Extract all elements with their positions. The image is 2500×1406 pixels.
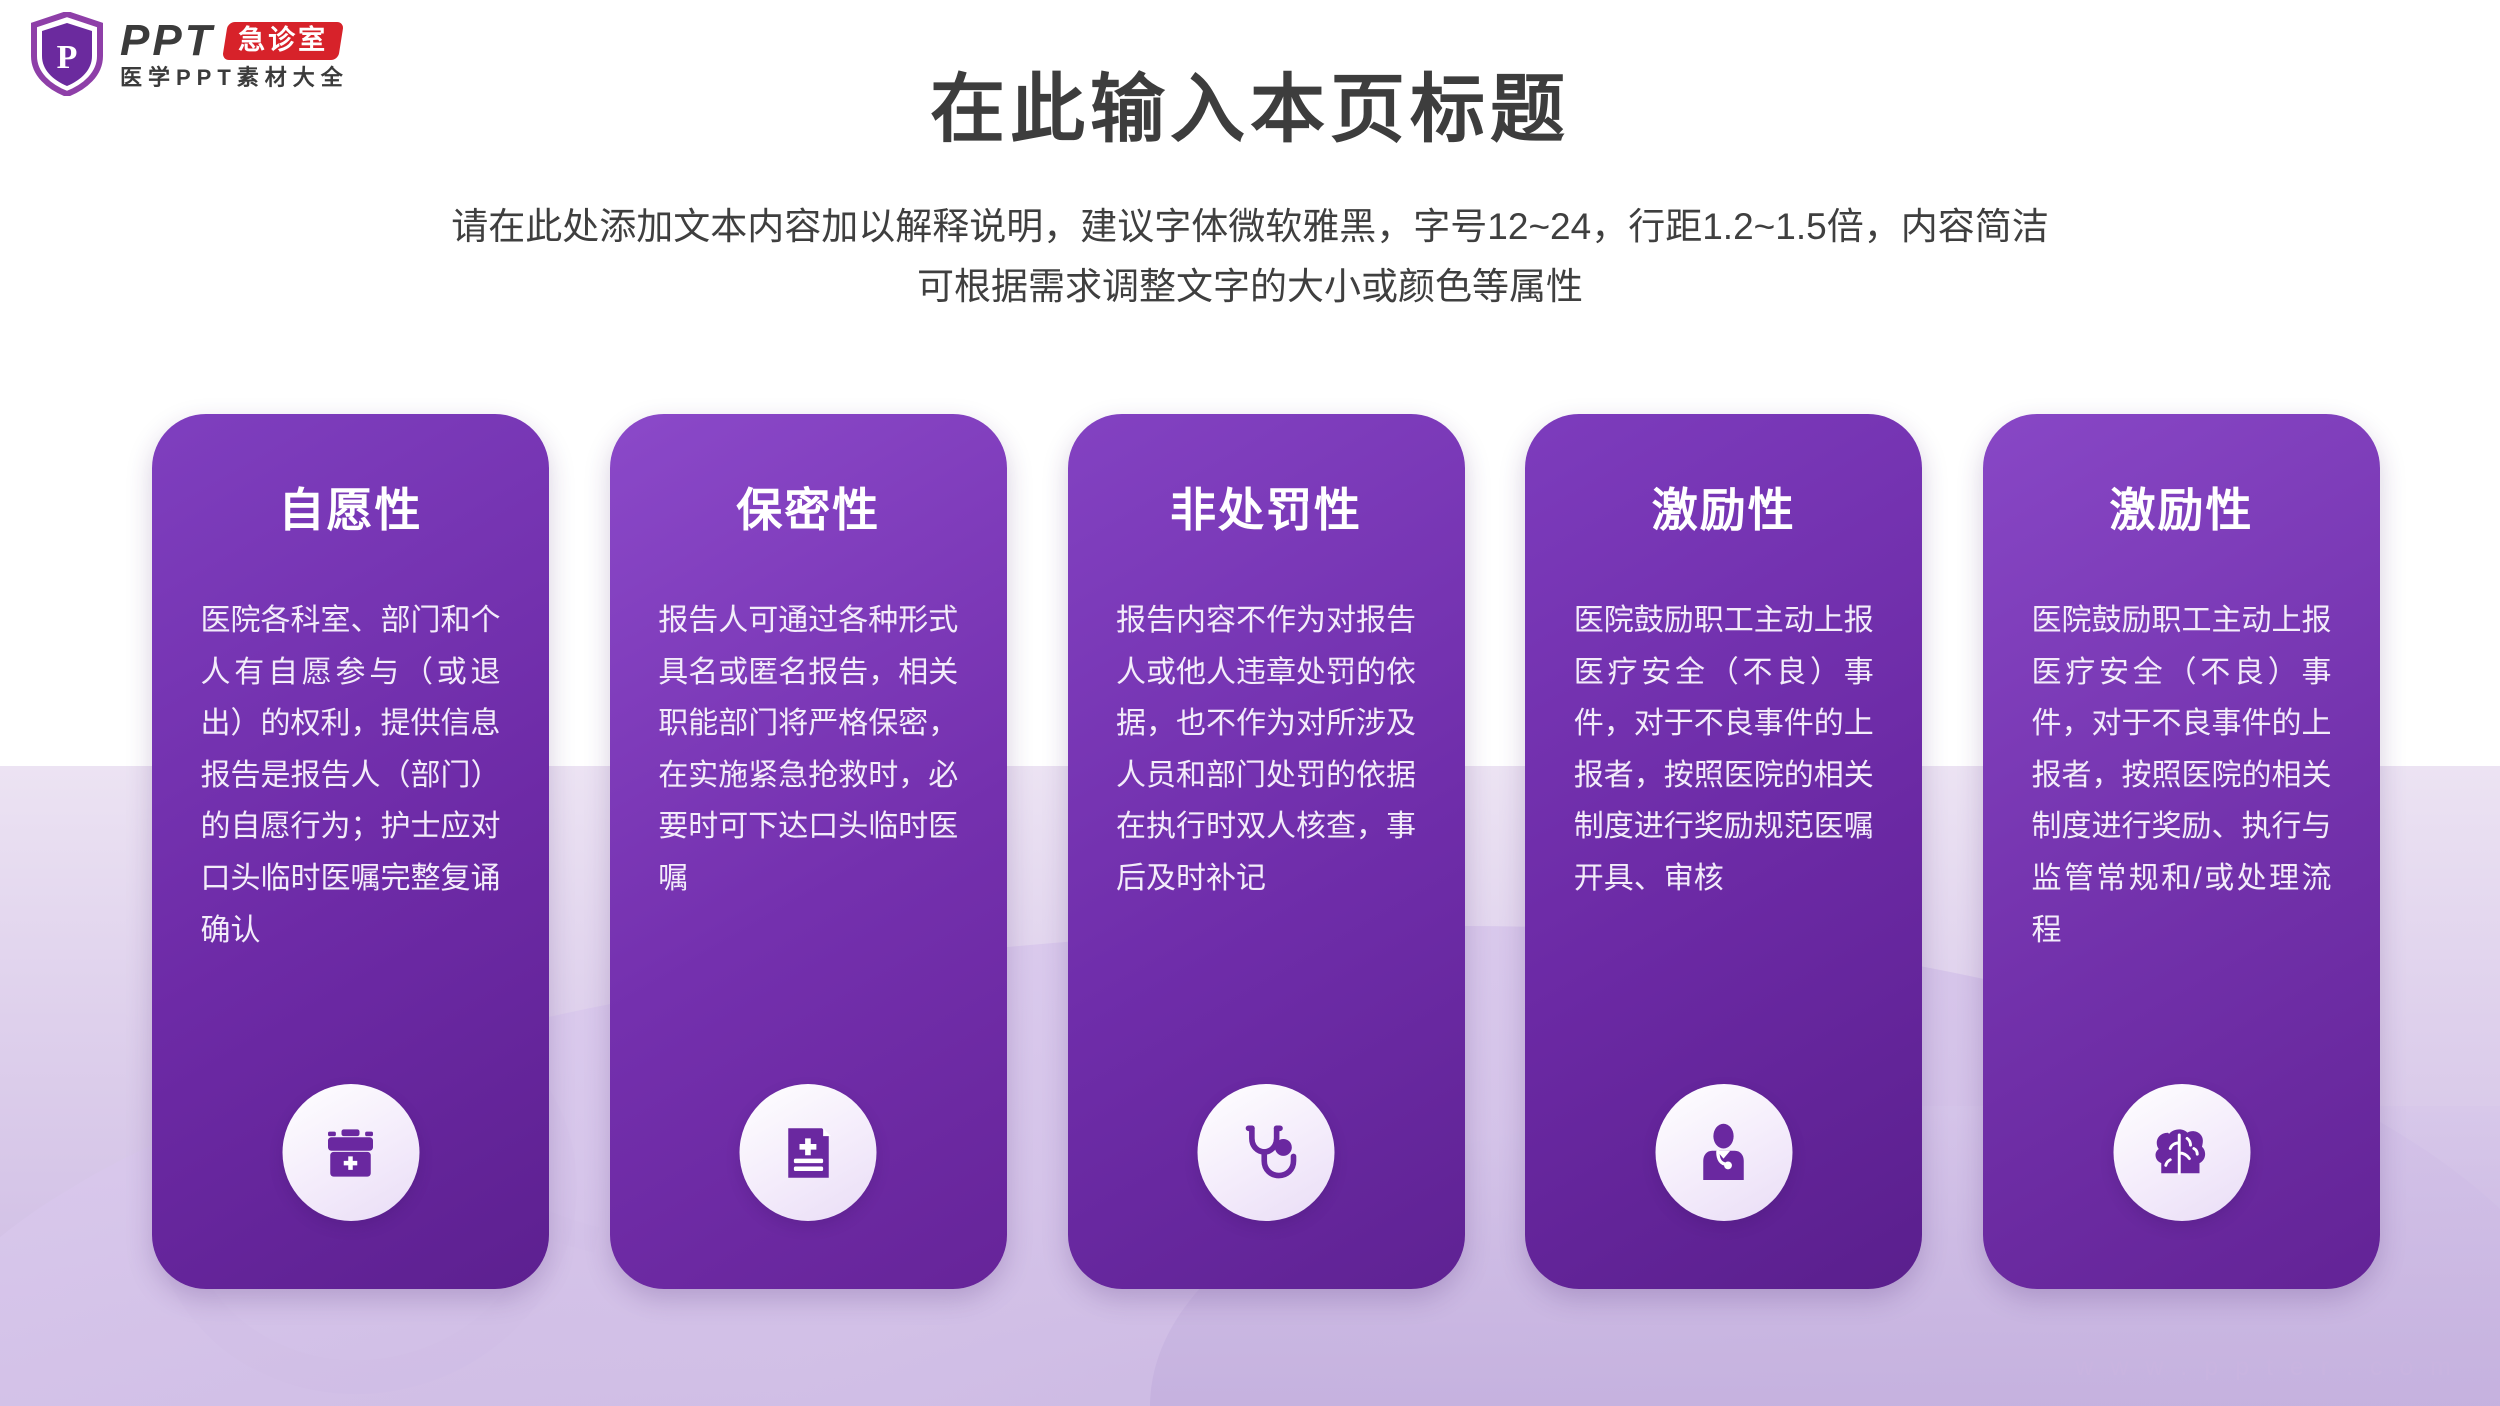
logo-subtitle: 医学PPT素材大全 (120, 67, 349, 89)
doctor-icon (1655, 1084, 1792, 1221)
info-card-1[interactable]: 自愿性 医院各科室、部门和个人有自愿参与（或退出）的权利，提供信息报告是报告人（… (152, 414, 549, 1289)
card-body: 医院鼓励职工主动上报医疗安全（不良）事件，对于不良事件的上报者，按照医院的相关制… (1574, 595, 1874, 905)
info-card-2[interactable]: 保密性 报告人可通过各种形式具名或匿名报告，相关职能部门将严格保密，在实施紧急抢… (610, 414, 1007, 1289)
stethoscope-icon (1198, 1084, 1335, 1221)
logo-primary-row: PPT 急诊室 (120, 19, 349, 63)
logo-text-block: PPT 急诊室 医学PPT素材大全 (120, 19, 349, 89)
card-body: 报告人可通过各种形式具名或匿名报告，相关职能部门将严格保密，在实施紧急抢救时，必… (658, 595, 958, 905)
page-title: 在此输入本页标题 (0, 48, 2500, 157)
card-title: 非处罚性 (1170, 487, 1362, 533)
info-card-5[interactable]: 激励性 医院鼓励职工主动上报医疗安全（不良）事件，对于不良事件的上报者，按照医院… (1983, 414, 2380, 1289)
slide-canvas: P PPT 急诊室 医学PPT素材大全 在此输入本页标题 请在此处添加文本内容加… (0, 0, 2500, 1406)
card-title: 激励性 (1652, 487, 1796, 533)
logo-badge: 急诊室 (222, 22, 344, 60)
page-subtitle-line-2: 可根据需求调整文字的大小或颜色等属性 (0, 257, 2500, 317)
card-title: 自愿性 (279, 487, 423, 533)
info-card-4[interactable]: 激励性 医院鼓励职工主动上报医疗安全（不良）事件，对于不良事件的上报者，按照医院… (1525, 414, 1922, 1289)
brain-icon (2113, 1084, 2250, 1221)
card-row: 自愿性 医院各科室、部门和个人有自愿参与（或退出）的权利，提供信息报告是报告人（… (152, 414, 2380, 1289)
card-body: 医院鼓励职工主动上报医疗安全（不良）事件，对于不良事件的上报者，按照医院的相关制… (2032, 595, 2332, 956)
medical-kit-icon (282, 1084, 419, 1221)
logo-badge-text: 急诊室 (238, 27, 328, 54)
card-body: 报告内容不作为对报告人或他人违章处罚的依据，也不作为对所涉及人员和部门处罚的依据… (1116, 595, 1416, 905)
logo-ppt-text: PPT (120, 19, 215, 63)
card-title: 保密性 (736, 487, 880, 533)
medical-document-icon (740, 1084, 877, 1221)
card-body: 医院各科室、部门和个人有自愿参与（或退出）的权利，提供信息报告是报告人（部门）的… (201, 595, 501, 956)
card-title: 激励性 (2110, 487, 2254, 533)
page-subtitle: 请在此处添加文本内容加以解释说明，建议字体微软雅黑，字号12~24，行距1.2~… (0, 197, 2500, 317)
page-subtitle-line-1: 请在此处添加文本内容加以解释说明，建议字体微软雅黑，字号12~24，行距1.2~… (0, 197, 2500, 257)
brand-logo: P PPT 急诊室 医学PPT素材大全 (30, 12, 349, 96)
info-card-3[interactable]: 非处罚性 报告内容不作为对报告人或他人违章处罚的依据，也不作为对所涉及人员和部门… (1068, 414, 1465, 1289)
footer-website-url: w w w . p p t e r . c o m (2075, 1353, 2456, 1382)
svg-text:P: P (57, 39, 78, 76)
shield-logo-icon: P (30, 12, 104, 96)
